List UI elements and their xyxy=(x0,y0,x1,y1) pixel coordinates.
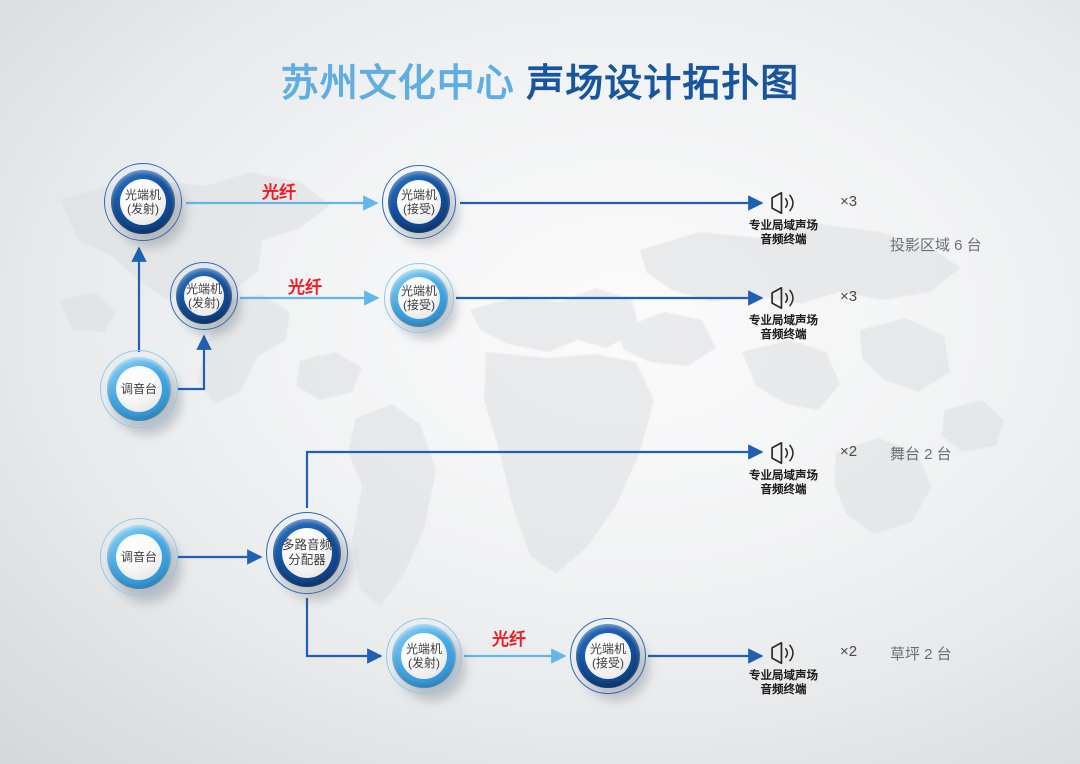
node-label-line-1: 光端机 xyxy=(401,284,437,298)
node-label-line-1: 调音台 xyxy=(121,550,157,564)
endpoint-label: 专业局域声场音频终端 xyxy=(749,314,818,343)
node-mix2[interactable]: 调音台 xyxy=(100,518,178,596)
endpoint-label: 专业局域声场音频终端 xyxy=(749,469,818,498)
node-label-line-1: 光端机 xyxy=(186,282,222,296)
connector-mix1-tx2 xyxy=(178,336,204,389)
endpoint-ep3[interactable]: 专业局域声场音频终端 xyxy=(749,440,818,498)
node-label: 多路音频分配器 xyxy=(282,538,332,568)
node-tx3[interactable]: 光端机(发射) xyxy=(386,618,462,694)
node-label-line-1: 多路音频 xyxy=(282,538,332,552)
endpoint-label-line-2: 音频终端 xyxy=(749,233,818,247)
connector-dist-tx3 xyxy=(307,598,381,656)
endpoint-ep2[interactable]: 专业局域声场音频终端 xyxy=(749,285,818,343)
endpoint-label-line-1: 专业局域声场 xyxy=(749,469,818,483)
node-core: 调音台 xyxy=(116,534,162,580)
endpoint-zone-label: 舞台 2 台 xyxy=(890,443,952,464)
page-title: 苏州文化中心 声场设计拓扑图 xyxy=(0,52,1080,107)
endpoint-multiplier: ×2 xyxy=(840,643,857,660)
node-label-line-2: (接受) xyxy=(592,656,624,670)
endpoint-zone-label: 投影区域 6 台 xyxy=(890,234,982,255)
fiber-label: 光纤 xyxy=(492,625,526,650)
node-label-line-2: (发射) xyxy=(188,296,220,310)
node-label-line-2: (接受) xyxy=(403,298,435,312)
node-core: 光端机(接受) xyxy=(397,180,441,224)
node-rx1[interactable]: 光端机(接受) xyxy=(382,165,456,239)
node-dist[interactable]: 多路音频分配器 xyxy=(266,512,348,594)
endpoint-zone-label: 草坪 2 台 xyxy=(890,643,952,664)
node-label-line-2: (发射) xyxy=(127,202,159,216)
fiber-label: 光纤 xyxy=(288,273,322,298)
node-label: 调音台 xyxy=(121,382,157,396)
node-core: 多路音频分配器 xyxy=(282,528,332,578)
node-label: 光端机(发射) xyxy=(186,282,222,310)
node-mix1[interactable]: 调音台 xyxy=(100,350,178,428)
connector-dist-ep3 xyxy=(307,452,762,508)
endpoint-label-line-2: 音频终端 xyxy=(749,683,818,697)
node-core: 光端机(发射) xyxy=(401,633,447,679)
node-label: 调音台 xyxy=(121,550,157,564)
node-label-line-2: (接受) xyxy=(403,202,435,216)
endpoint-multiplier: ×3 xyxy=(840,193,857,210)
node-tx2[interactable]: 光端机(发射) xyxy=(170,262,238,330)
endpoint-label: 专业局域声场音频终端 xyxy=(749,669,818,698)
endpoint-label-line-1: 专业局域声场 xyxy=(749,219,818,233)
topology-diagram: 苏州文化中心 声场设计拓扑图 xyxy=(0,0,1080,764)
endpoint-label-line-2: 音频终端 xyxy=(749,483,818,497)
node-label: 光端机(接受) xyxy=(401,284,437,312)
node-label-line-1: 调音台 xyxy=(121,382,157,396)
node-label-line-1: 光端机 xyxy=(125,188,161,202)
fiber-label: 光纤 xyxy=(262,178,296,203)
node-core: 调音台 xyxy=(116,366,162,412)
endpoint-ep4[interactable]: 专业局域声场音频终端 xyxy=(749,640,818,698)
node-label-line-2: (发射) xyxy=(408,656,440,670)
node-label: 光端机(接受) xyxy=(590,642,626,670)
endpoint-label: 专业局域声场音频终端 xyxy=(749,219,818,248)
endpoint-label-line-1: 专业局域声场 xyxy=(749,669,818,683)
endpoint-label-line-2: 音频终端 xyxy=(749,328,818,342)
title-part-1: 苏州文化中心 xyxy=(281,63,515,105)
speaker-icon xyxy=(767,285,801,311)
node-core: 光端机(接受) xyxy=(398,277,440,319)
endpoint-ep1[interactable]: 专业局域声场音频终端 xyxy=(749,190,818,248)
endpoint-label-line-1: 专业局域声场 xyxy=(749,314,818,328)
node-core: 光端机(发射) xyxy=(184,276,224,316)
node-rx3[interactable]: 光端机(接受) xyxy=(570,618,646,694)
node-label: 光端机(发射) xyxy=(125,188,161,216)
node-core: 光端机(接受) xyxy=(585,633,631,679)
node-label-line-1: 光端机 xyxy=(406,642,442,656)
node-label: 光端机(发射) xyxy=(406,642,442,670)
speaker-icon xyxy=(767,190,801,216)
node-tx1[interactable]: 光端机(发射) xyxy=(104,163,182,241)
node-core: 光端机(发射) xyxy=(120,179,166,225)
endpoint-multiplier: ×3 xyxy=(840,288,857,305)
title-part-2: 声场设计拓扑图 xyxy=(526,63,799,105)
node-label-line-2: 分配器 xyxy=(288,553,326,567)
endpoint-multiplier: ×2 xyxy=(840,443,857,460)
node-label-line-1: 光端机 xyxy=(401,188,437,202)
node-rx2[interactable]: 光端机(接受) xyxy=(384,263,454,333)
node-label-line-1: 光端机 xyxy=(590,642,626,656)
speaker-icon xyxy=(767,440,801,466)
node-label: 光端机(接受) xyxy=(401,188,437,216)
speaker-icon xyxy=(767,640,801,666)
